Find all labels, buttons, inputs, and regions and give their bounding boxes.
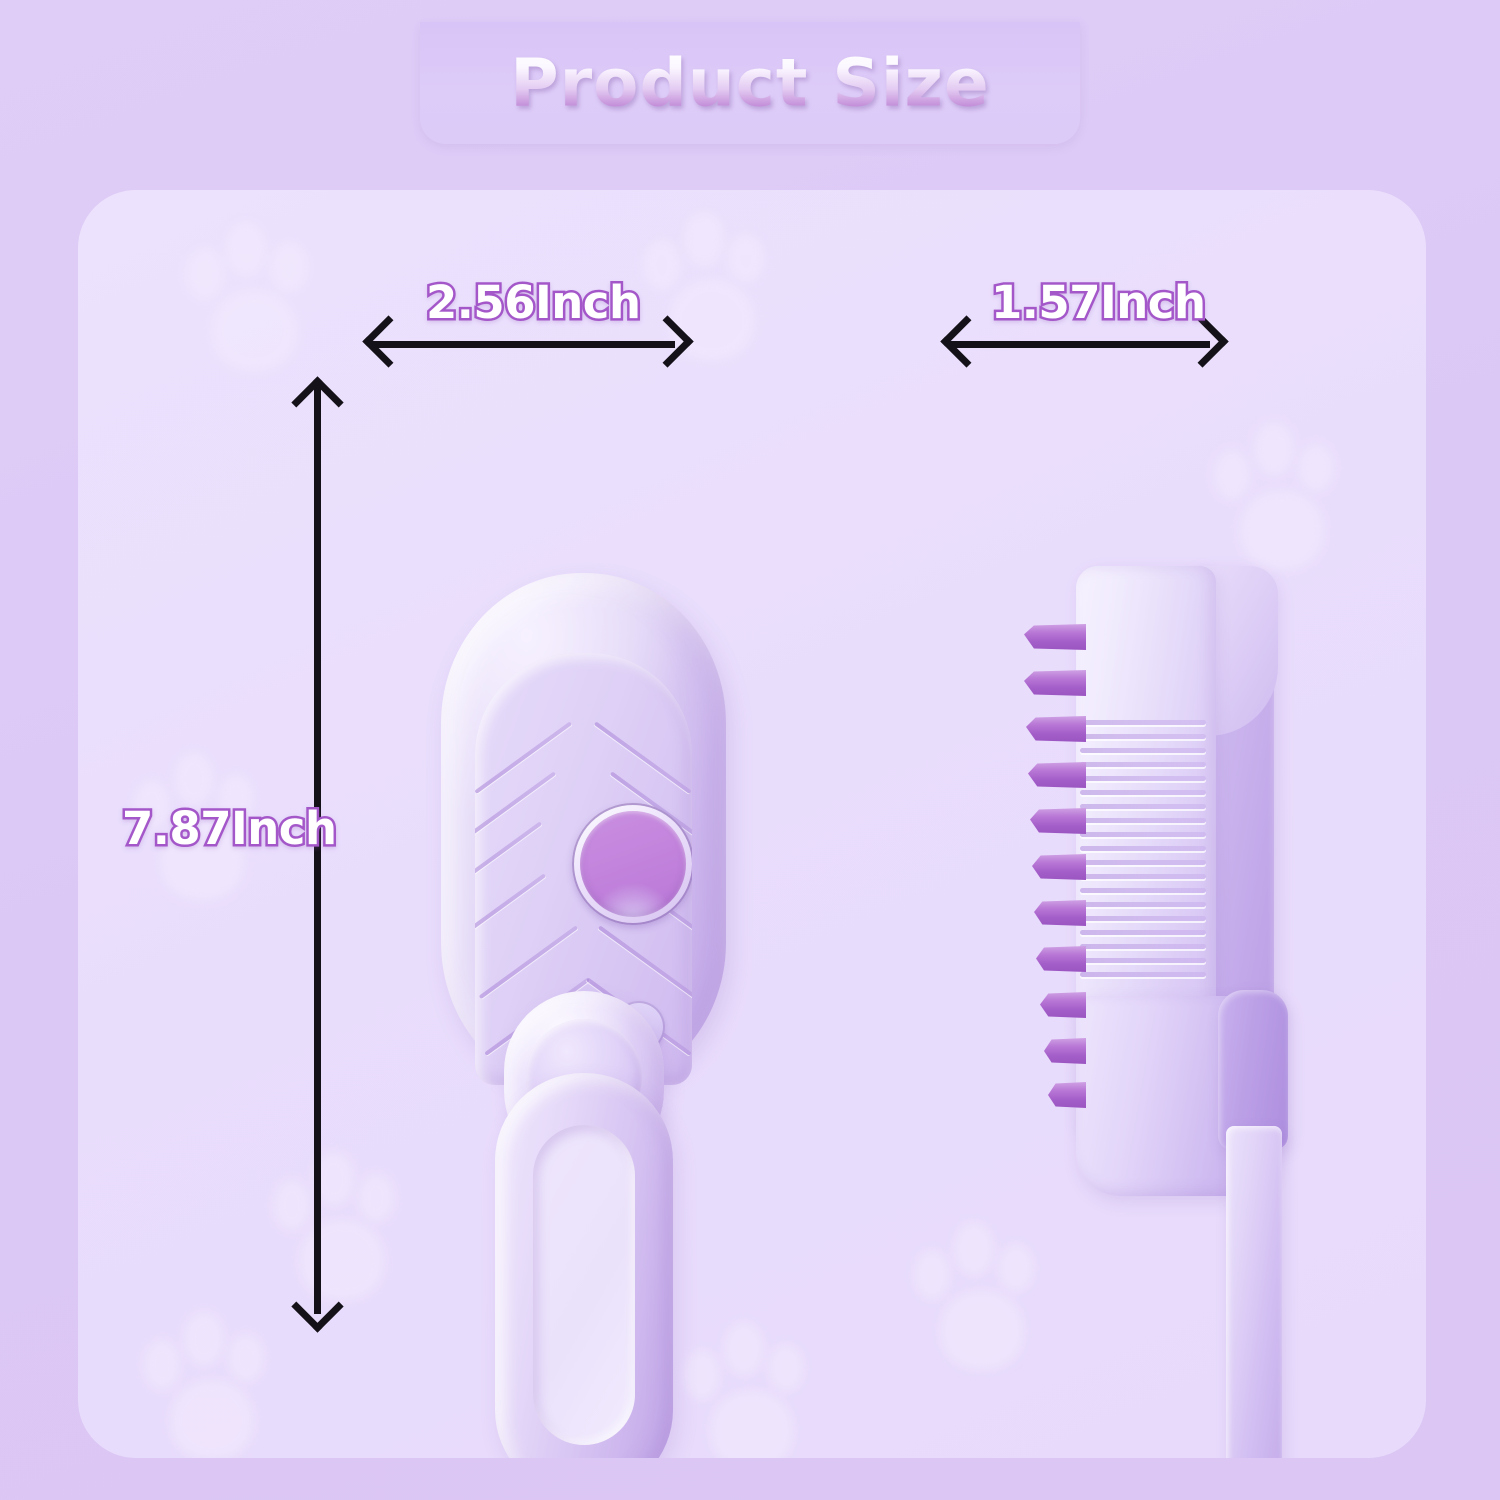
power-button[interactable]: [572, 803, 692, 925]
side-view-product: [1018, 566, 1318, 1458]
dimension-arrow-width-front: [372, 341, 675, 348]
chevron-line: [594, 721, 692, 794]
bristle-tooth: [1030, 808, 1086, 834]
bristle-tooth: [1032, 854, 1086, 880]
chevron-line: [475, 721, 572, 794]
bristle-tooth: [1036, 946, 1086, 972]
paw-print-watermark: [1208, 420, 1358, 580]
content-panel: 2.56Inch 1.57Inch 7.87Inch: [78, 190, 1426, 1458]
bristle-tooth: [1026, 716, 1086, 742]
arrowhead-left: [362, 315, 414, 367]
bristle-tooth: [1048, 1082, 1086, 1108]
bristle-tooth: [1044, 1038, 1086, 1064]
chevron-line: [475, 873, 546, 933]
bristle-tooth: [1024, 670, 1086, 696]
bristle-tooth: [1034, 900, 1086, 926]
paw-print-watermark: [178, 220, 328, 380]
bristle-tooth: [1028, 762, 1086, 788]
bristle-tooth: [1024, 624, 1086, 650]
dimension-label-width-front: 2.56Inch: [426, 276, 641, 329]
chevron-line: [475, 821, 542, 881]
dimension-label-width-side: 1.57Inch: [991, 276, 1206, 329]
bristle-tooth: [1040, 992, 1086, 1018]
power-button-core: [580, 811, 686, 917]
chevron-line: [479, 925, 578, 999]
dimension-label-height-total: 7.87Inch: [122, 802, 337, 855]
title-banner: Product Size: [420, 22, 1080, 144]
paw-print-watermark: [268, 1150, 418, 1310]
rib-texture-band: [1080, 716, 1206, 982]
arrowhead-up: [291, 376, 343, 428]
handle-loop-opening: [533, 1125, 635, 1445]
side-view-handle-shaft: [1226, 1126, 1282, 1458]
page-title: Product Size: [420, 45, 1080, 122]
chevron-line: [598, 925, 692, 999]
arrowhead-left: [940, 315, 992, 367]
handle-shaft: [495, 1073, 673, 1458]
front-view-product: [441, 573, 726, 1458]
product-size-infographic: Product Size: [0, 0, 1500, 1500]
paw-print-watermark: [138, 1310, 288, 1458]
